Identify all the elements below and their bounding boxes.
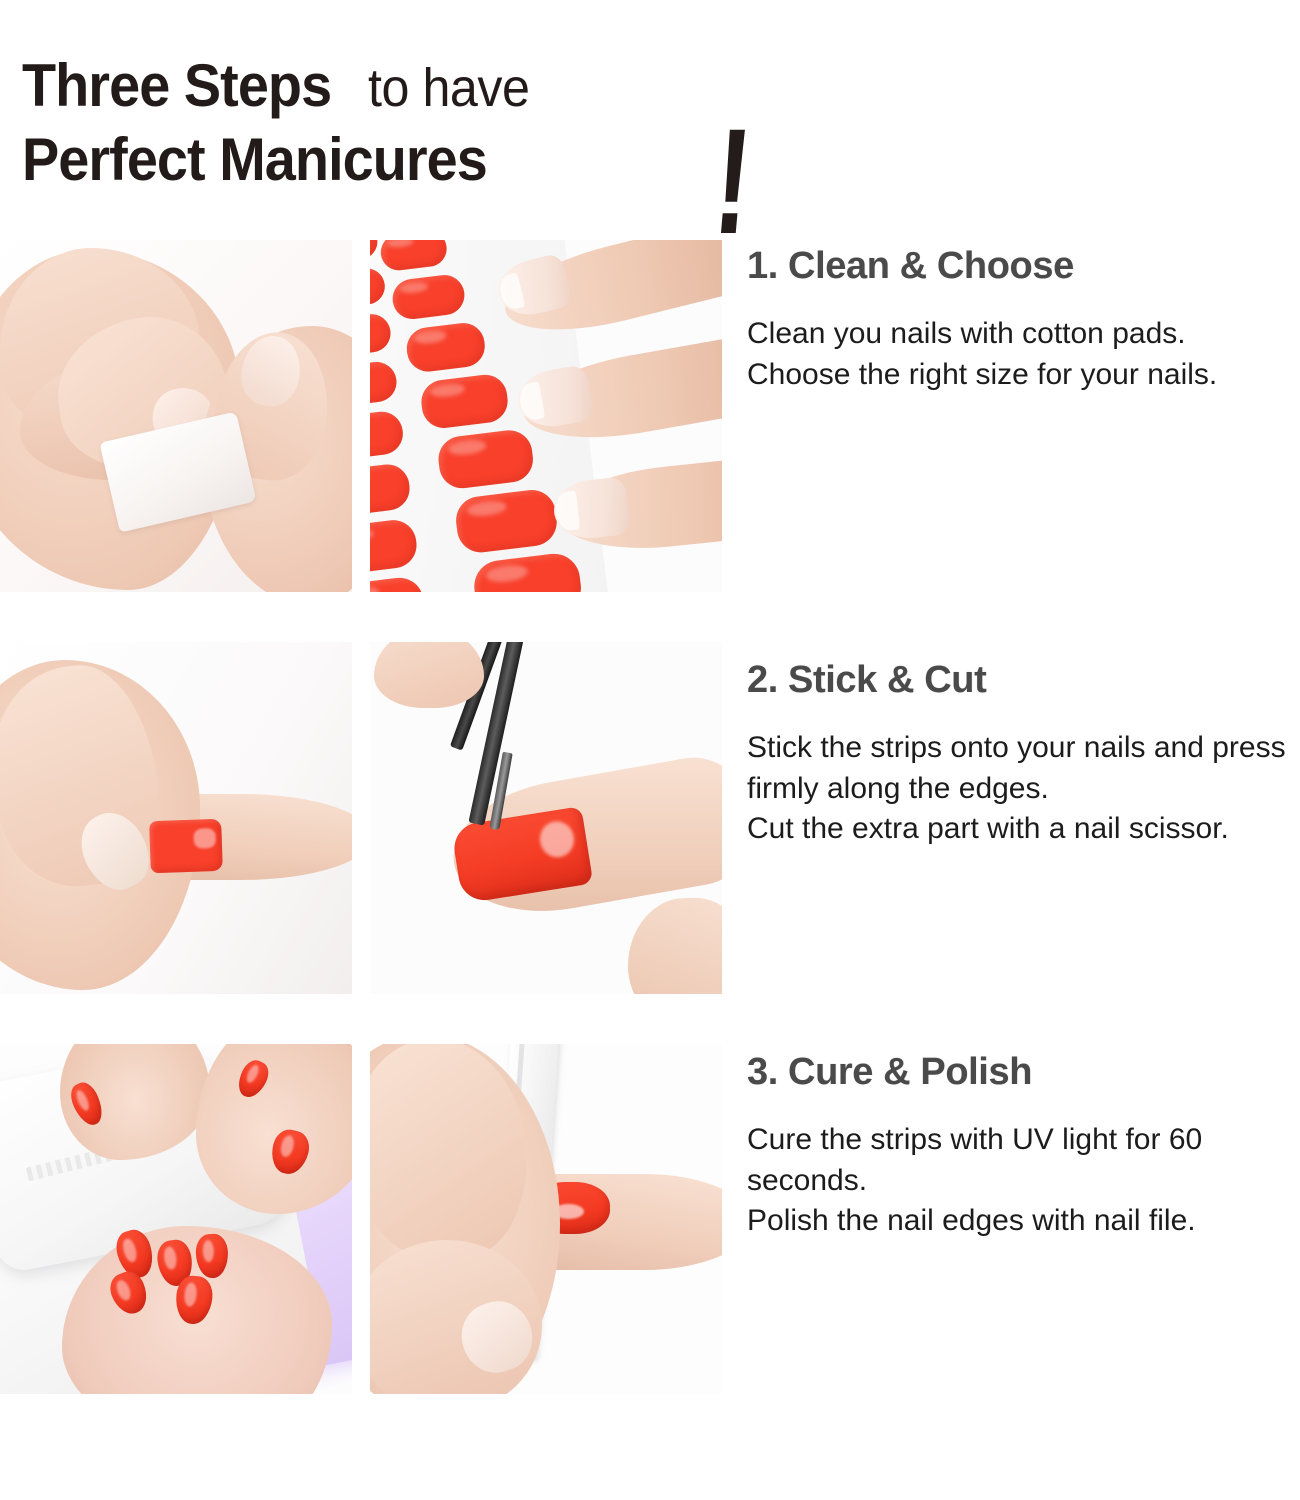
nail-strip (370, 462, 412, 518)
photo-polishing-nail-edge-with-file (370, 1044, 722, 1394)
photo-cutting-strip-with-nail-scissor (370, 642, 722, 994)
step-row-1: 1. Clean & Choose Clean you nails with c… (0, 240, 1300, 617)
step-heading-2: 2. Stick & Cut (747, 660, 1300, 702)
fingernail-shape (551, 476, 631, 541)
step-body-line: Cut the extra part with a nail scissor. (747, 809, 1300, 850)
step-text-3: 3. Cure & Polish Cure the strips with UV… (747, 1052, 1300, 1242)
fingers-group (512, 240, 722, 592)
exclamation-mark: ! (709, 106, 757, 256)
title-line-2: Perfect Manicures (22, 130, 522, 190)
step-body-1: Clean you nails with cotton pads. Choose… (747, 314, 1300, 396)
title-line-1: Three Stepsto have (22, 56, 542, 116)
nail-strip (370, 360, 399, 409)
nail-strip (370, 266, 387, 310)
title-strong-2: Perfect Manicures (22, 130, 487, 190)
nail-strip (149, 819, 223, 873)
step-body-line: Cure the strips with UV light for 60 sec… (747, 1120, 1300, 1202)
nail-strip (370, 312, 393, 358)
photo-sticking-strip-onto-nail (0, 642, 352, 994)
nail-strip (370, 409, 405, 461)
nail-strip (419, 372, 510, 430)
step-row-3: 3. Cure & Polish Cure the strips with UV… (0, 1044, 1300, 1421)
nail-strip (404, 321, 487, 374)
step-body-line: Clean you nails with cotton pads. (747, 314, 1300, 355)
step-body-3: Cure the strips with UV light for 60 sec… (747, 1120, 1300, 1242)
page-title: Three Stepsto have Perfect Manicures ! (22, 56, 822, 206)
step-text-1: 1. Clean & Choose Clean you nails with c… (747, 246, 1300, 395)
nail-strip (390, 273, 466, 321)
title-strong-1: Three Steps (22, 56, 331, 116)
step-body-line: Stick the strips onto your nails and pre… (747, 728, 1300, 810)
step-heading-3: 3. Cure & Polish (747, 1052, 1300, 1094)
nail-strip (370, 575, 426, 592)
photo-curing-nails-in-uv-lamp (0, 1044, 352, 1394)
nail-strip (379, 240, 449, 272)
thumb-shape (374, 642, 484, 708)
nail-strip (370, 240, 379, 264)
photo-nail-strip-sheet-with-fingers (370, 240, 722, 592)
step-body-2: Stick the strips onto your nails and pre… (747, 728, 1300, 850)
step-body-line: Choose the right size for your nails. (747, 355, 1300, 396)
steps-grid: 1. Clean & Choose Clean you nails with c… (0, 240, 1300, 1421)
title-light-1: to have (368, 61, 529, 115)
step-text-2: 2. Stick & Cut Stick the strips onto you… (747, 660, 1300, 850)
photo-wiping-nail-with-cotton-pad (0, 240, 352, 592)
step-body-line: Polish the nail edges with nail file. (747, 1201, 1300, 1242)
step-row-2: 2. Stick & Cut Stick the strips onto you… (0, 642, 1300, 1019)
step-heading-1: 1. Clean & Choose (747, 246, 1300, 288)
nail-strip (370, 518, 419, 576)
upper-hand-shape (196, 1044, 352, 1214)
